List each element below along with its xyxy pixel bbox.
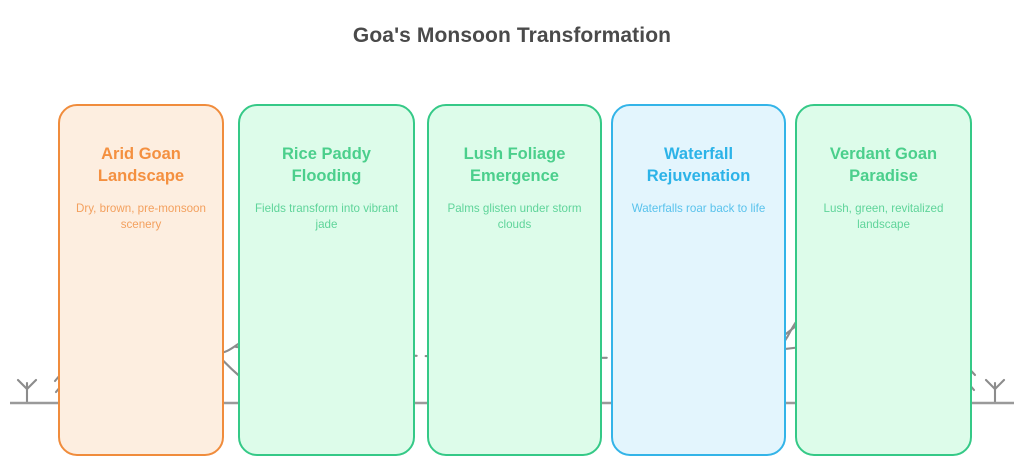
- card-title: Rice Paddy Flooding: [254, 144, 399, 188]
- card-title: Waterfall Rejuvenation: [627, 144, 771, 188]
- stage-card-lush-foliage-emergence[interactable]: Lush Foliage Emergence Palms glisten und…: [427, 104, 602, 456]
- card-title: Verdant Goan Paradise: [811, 144, 956, 188]
- stage-card-rice-paddy-flooding[interactable]: Rice Paddy Flooding Fields transform int…: [238, 104, 415, 456]
- card-subtitle: Waterfalls roar back to life: [623, 201, 773, 217]
- card-subtitle: Fields transform into vibrant jade: [250, 201, 402, 233]
- card-subtitle: Dry, brown, pre-monsoon scenery: [70, 201, 213, 233]
- stage-card-arid-goan-landscape[interactable]: Arid Goan Landscape Dry, brown, pre-mons…: [58, 104, 224, 456]
- shrub-far-right: [986, 380, 1004, 403]
- stage-card-waterfall-rejuvenation[interactable]: Waterfall Rejuvenation Waterfalls roar b…: [611, 104, 786, 456]
- card-title: Arid Goan Landscape: [73, 144, 209, 188]
- card-subtitle: Palms glisten under storm clouds: [439, 201, 589, 233]
- infographic-canvas: Goa's Monsoon Transformation: [0, 0, 1024, 471]
- shrub-far-left: [18, 380, 36, 403]
- card-subtitle: Lush, green, revitalized landscape: [807, 201, 959, 233]
- stage-card-verdant-goan-paradise[interactable]: Verdant Goan Paradise Lush, green, revit…: [795, 104, 972, 456]
- card-title: Lush Foliage Emergence: [443, 144, 587, 188]
